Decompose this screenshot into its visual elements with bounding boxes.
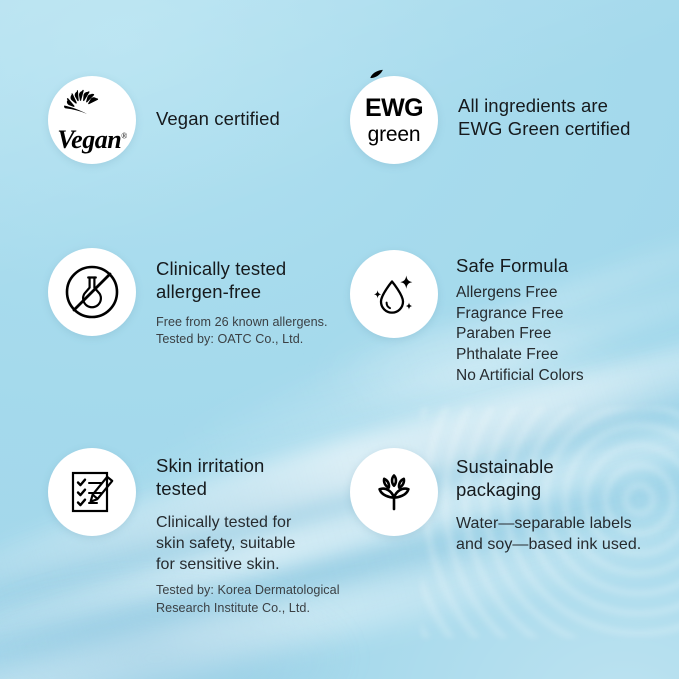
feature-text-allergen: Clinically tested allergen-free Free fro… <box>136 248 328 349</box>
water-drop-sparkle-icon <box>365 265 423 323</box>
ewg-wordmark-bottom: green <box>365 124 423 145</box>
feature-text-formula: Safe Formula Allergens Free Fragrance Fr… <box>438 250 584 387</box>
no-flask-icon <box>63 263 121 321</box>
feature-fine-print: Free from 26 known allergens. Tested by:… <box>156 314 328 349</box>
ewg-green-logo-icon: EWG green <box>365 96 423 145</box>
feature-text-ewg: All ingredients are EWG Green certified <box>438 76 631 141</box>
feature-heading: All ingredients are EWG Green certified <box>458 95 631 141</box>
list-item: Fragrance Free <box>456 304 584 325</box>
checklist-pencil-icon <box>65 465 119 519</box>
list-item: No Artificial Colors <box>456 366 584 387</box>
safe-formula-list: Allergens Free Fragrance Free Paraben Fr… <box>456 283 584 387</box>
feature-ewg-green: EWG green All ingredients are EWG Green … <box>350 76 631 164</box>
feature-sustainable-packaging: Sustainable packaging Water—separable la… <box>350 448 641 555</box>
sprout-plant-icon <box>366 464 422 520</box>
vegan-logo-icon: Vegan® <box>57 87 127 153</box>
leaf-icon <box>369 69 384 79</box>
badge-vegan: Vegan® <box>48 76 136 164</box>
feature-text-irritation: Skin irritation tested Clinically tested… <box>136 448 340 617</box>
feature-safe-formula: Safe Formula Allergens Free Fragrance Fr… <box>350 250 584 387</box>
feature-text-sustain: Sustainable packaging Water—separable la… <box>438 448 641 555</box>
registered-mark: ® <box>121 131 127 140</box>
feature-heading: Vegan certified <box>156 108 280 131</box>
feature-heading: Clinically tested allergen-free <box>156 258 328 304</box>
feature-skin-irritation-tested: Skin irritation tested Clinically tested… <box>48 448 340 617</box>
feature-text-vegan: Vegan certified <box>136 76 280 131</box>
feature-grid: Vegan® Vegan certified EWG green All ing… <box>0 0 679 679</box>
badge-ewg: EWG green <box>350 76 438 164</box>
feature-heading: Safe Formula <box>456 255 584 278</box>
list-item: Paraben Free <box>456 324 584 345</box>
feature-allergen-free: Clinically tested allergen-free Free fro… <box>48 248 328 349</box>
list-item: Allergens Free <box>456 283 584 304</box>
feature-heading: Sustainable packaging <box>456 456 641 502</box>
feature-fine-print: Tested by: Korea Dermatological Research… <box>156 582 340 617</box>
badge-skin-irritation <box>48 448 136 536</box>
feature-heading: Skin irritation tested <box>156 455 340 501</box>
list-item: Phthalate Free <box>456 345 584 366</box>
feature-subtext: Clinically tested for skin safety, suita… <box>156 512 340 575</box>
badge-safe-formula <box>350 250 438 338</box>
product-claims-infographic: Vegan® Vegan certified EWG green All ing… <box>0 0 679 679</box>
feature-subtext: Water—separable labels and soy—based ink… <box>456 513 641 555</box>
badge-allergen-free <box>48 248 136 336</box>
feature-vegan-certified: Vegan® Vegan certified <box>48 76 280 164</box>
ewg-wordmark-top: EWG <box>365 96 423 121</box>
badge-sustainable <box>350 448 438 536</box>
